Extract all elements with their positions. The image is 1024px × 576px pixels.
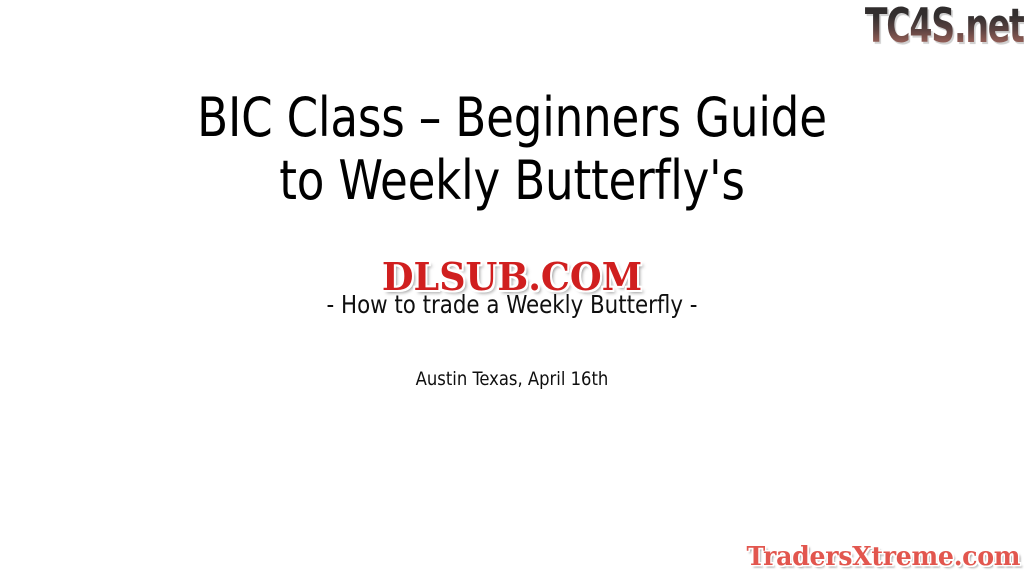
location-block: Austin Texas, April 16th (0, 368, 1024, 390)
slide-location: Austin Texas, April 16th (20, 368, 1003, 390)
tradersxtreme-watermark: TradersXtreme.com (746, 544, 1020, 570)
dlsub-watermark: DLSUB.COM (382, 258, 642, 296)
page-title: BIC Class – Beginners Guide to Weekly Bu… (36, 86, 988, 212)
tc4s-watermark: TC4S.net (865, 2, 1024, 49)
presentation-slide: TC4S.net BIC Class – Beginners Guide to … (0, 0, 1024, 576)
title-block: BIC Class – Beginners Guide to Weekly Bu… (0, 86, 1024, 212)
